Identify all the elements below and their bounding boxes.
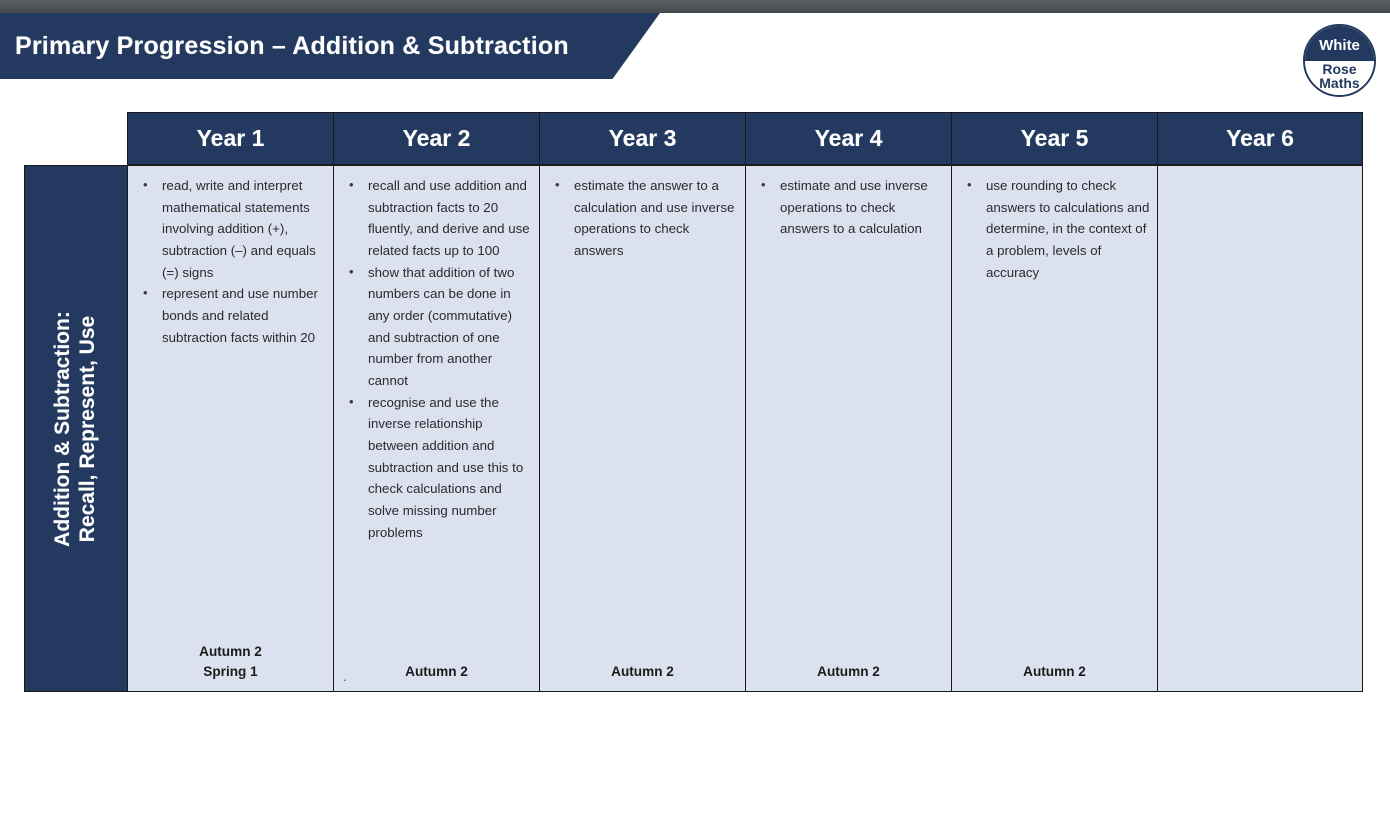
table-body-row: Addition & Subtraction: Recall, Represen… xyxy=(24,165,1363,692)
logo-line-maths: Maths xyxy=(1319,76,1359,91)
slide-title-banner: Primary Progression – Addition & Subtrac… xyxy=(0,13,660,79)
column-header-label: Year 4 xyxy=(815,125,883,152)
column-header-year-1[interactable]: Year 1 xyxy=(127,112,333,165)
cell-year-5[interactable]: use rounding to check answers to calcula… xyxy=(951,165,1157,692)
row-header-text: Addition & Subtraction: Recall, Represen… xyxy=(51,311,101,547)
objective-list: estimate and use inverse operations to c… xyxy=(753,175,944,240)
logo-top-half: White xyxy=(1305,26,1374,61)
term-label: Autumn 2 Spring 1 xyxy=(135,642,326,683)
list-item: recognise and use the inverse relationsh… xyxy=(341,392,532,544)
column-header-label: Year 2 xyxy=(403,125,471,152)
cell-year-4[interactable]: estimate and use inverse operations to c… xyxy=(745,165,951,692)
term-line: Spring 1 xyxy=(135,662,326,681)
cell-year-1[interactable]: read, write and interpret mathematical s… xyxy=(127,165,333,692)
list-item: represent and use number bonds and relat… xyxy=(135,283,326,348)
column-header-year-5[interactable]: Year 5 xyxy=(951,112,1157,165)
term-label: Autumn 2 xyxy=(547,662,738,683)
row-header-line-2: Recall, Represent, Use xyxy=(76,311,101,547)
objective-list: estimate the answer to a calculation and… xyxy=(547,175,738,262)
page-title: Primary Progression – Addition & Subtrac… xyxy=(0,32,569,61)
list-item: read, write and interpret mathematical s… xyxy=(135,175,326,283)
row-header-line-1: Addition & Subtraction: xyxy=(51,311,76,547)
list-item: estimate and use inverse operations to c… xyxy=(753,175,944,240)
objective-list: recall and use addition and subtraction … xyxy=(341,175,532,543)
table-header-row: Year 1 Year 2 Year 3 Year 4 Year 5 Year … xyxy=(127,112,1363,165)
list-item: use rounding to check answers to calcula… xyxy=(959,175,1150,283)
column-header-label: Year 6 xyxy=(1226,125,1294,152)
window-chrome-bar xyxy=(0,0,1390,13)
term-line: Autumn 2 xyxy=(547,662,738,681)
column-header-year-4[interactable]: Year 4 xyxy=(745,112,951,165)
term-label: Autumn 2 xyxy=(341,662,532,683)
cell-year-2[interactable]: recall and use addition and subtraction … xyxy=(333,165,539,692)
column-header-label: Year 5 xyxy=(1021,125,1089,152)
term-label xyxy=(1165,681,1355,683)
logo-line-white: White xyxy=(1319,38,1360,53)
objective-list: read, write and interpret mathematical s… xyxy=(135,175,326,348)
cell-year-3[interactable]: estimate the answer to a calculation and… xyxy=(539,165,745,692)
column-header-label: Year 1 xyxy=(197,125,265,152)
column-header-year-6[interactable]: Year 6 xyxy=(1157,112,1363,165)
term-line: Autumn 2 xyxy=(341,662,532,681)
cell-year-6[interactable] xyxy=(1157,165,1363,692)
objective-list: use rounding to check answers to calcula… xyxy=(959,175,1150,283)
list-item: recall and use addition and subtraction … xyxy=(341,175,532,262)
column-header-year-2[interactable]: Year 2 xyxy=(333,112,539,165)
list-item: show that addition of two numbers can be… xyxy=(341,262,532,392)
stray-punctuation-mark: . xyxy=(343,670,347,683)
list-item: estimate the answer to a calculation and… xyxy=(547,175,738,262)
row-header-strand: Addition & Subtraction: Recall, Represen… xyxy=(24,165,127,692)
slide-canvas: Primary Progression – Addition & Subtrac… xyxy=(0,0,1390,818)
term-label: Autumn 2 xyxy=(753,662,944,683)
column-header-year-3[interactable]: Year 3 xyxy=(539,112,745,165)
column-header-label: Year 3 xyxy=(609,125,677,152)
logo-bottom-half: Rose Maths xyxy=(1305,61,1374,96)
term-line: Autumn 2 xyxy=(135,642,326,661)
term-line: Autumn 2 xyxy=(753,662,944,681)
logo-line-rose: Rose xyxy=(1322,62,1356,77)
term-label: Autumn 2 xyxy=(959,662,1150,683)
term-line: Autumn 2 xyxy=(959,662,1150,681)
white-rose-maths-logo: White Rose Maths xyxy=(1303,24,1376,97)
